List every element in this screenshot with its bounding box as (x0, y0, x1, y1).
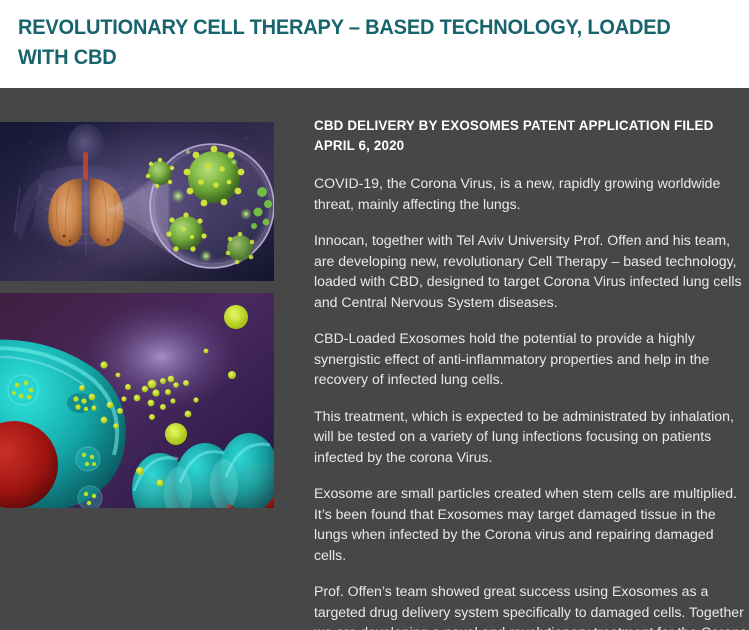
exosome-cells-illustration (0, 293, 274, 508)
lungs-coronavirus-image (0, 122, 274, 281)
page-title: REVOLUTIONARY CELL THERAPY – BASED TECHN… (18, 12, 676, 72)
lungs-coronavirus-illustration (0, 122, 274, 281)
article-paragraph: CBD-Loaded Exosomes hold the potential t… (314, 328, 749, 390)
article-heading: CBD DELIVERY BY EXOSOMES PATENT APPLICAT… (314, 116, 749, 156)
exosome-cells-image (0, 293, 274, 508)
article-paragraph: Exosome are small particles created when… (314, 483, 749, 565)
article-paragraph: Innocan, together with Tel Aviv Universi… (314, 230, 749, 312)
article-column: CBD DELIVERY BY EXOSOMES PATENT APPLICAT… (274, 88, 749, 630)
media-column (0, 88, 274, 508)
article-paragraph: COVID-19, the Corona Virus, is a new, ra… (314, 173, 749, 214)
page-header: REVOLUTIONARY CELL THERAPY – BASED TECHN… (0, 0, 749, 88)
article-content-panel: CBD DELIVERY BY EXOSOMES PATENT APPLICAT… (0, 88, 749, 630)
article-paragraph: Prof. Offen’s team showed great success … (314, 581, 749, 630)
article-paragraph: This treatment, which is expected to be … (314, 406, 749, 468)
